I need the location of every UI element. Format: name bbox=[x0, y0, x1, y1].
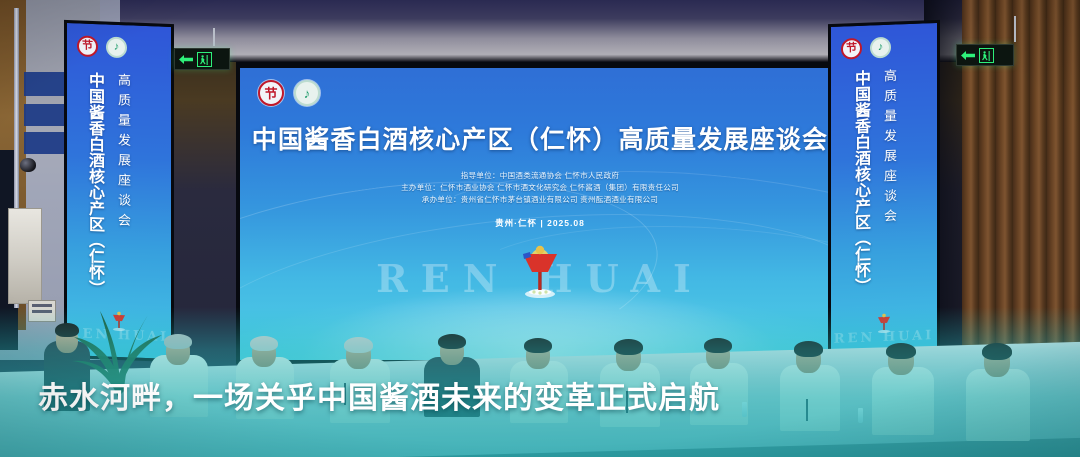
running-man-exit-icon bbox=[197, 52, 212, 67]
guidance-unit-line: 指导单位：中国酒类流通协会 仁怀市人民政府 bbox=[240, 170, 840, 182]
banner-logos: 节 ♪ bbox=[841, 37, 891, 60]
wall-speaker bbox=[8, 208, 42, 304]
exit-sign-hanger bbox=[1014, 16, 1016, 42]
association-logo: 节 bbox=[841, 38, 862, 60]
exit-sign-left bbox=[174, 48, 230, 70]
exit-sign-right bbox=[956, 44, 1014, 66]
running-man-exit-icon bbox=[979, 48, 994, 63]
government-logo: ♪ bbox=[106, 37, 127, 59]
security-camera-icon bbox=[20, 158, 36, 172]
banner-sub-text: 高质量发展座谈会 bbox=[879, 68, 898, 229]
banner-sub-text: 高质量发展座谈会 bbox=[113, 73, 132, 234]
conference-title: 中国酱香白酒核心产区（仁怀）高质量发展座谈会 bbox=[240, 120, 840, 156]
renhuai-statue-icon bbox=[517, 242, 563, 298]
left-arrow-icon bbox=[178, 53, 194, 66]
place-date: 贵州·仁怀 | 2025.08 bbox=[240, 217, 840, 229]
screen-title-block: 中国酱香白酒核心产区（仁怀）高质量发展座谈会 指导单位：中国酒类流通协会 仁怀市… bbox=[240, 120, 840, 229]
headline-caption: 赤水河畔，一场关乎中国酱酒未来的变革正式启航 bbox=[38, 373, 720, 417]
banner-main-text: 中国酱香白酒核心产区（仁怀） bbox=[83, 72, 107, 297]
screen-logos: 节 ♪ bbox=[258, 80, 320, 106]
host-unit-line: 主办单位：仁怀市酒业协会 仁怀市酒文化研究会 仁怀酱酒（集团）有限责任公司 bbox=[240, 182, 840, 194]
china-alcoholic-drinks-association-logo: 节 bbox=[258, 80, 284, 106]
renhuai-government-logo: ♪ bbox=[294, 80, 320, 106]
banner-logos: 节 ♪ bbox=[77, 35, 127, 58]
conference-photo: 节 ♪ 中国酱香白酒核心产区（仁怀） 高质量发展座谈会 REN HUAI bbox=[0, 0, 1080, 457]
organizer-unit-line: 承办单位：贵州省仁怀市茅台镇酒业有限公司 贵州酝酒酒业有限公司 bbox=[240, 194, 840, 206]
government-logo: ♪ bbox=[870, 37, 891, 59]
association-logo: 节 bbox=[77, 35, 98, 57]
exit-sign-hanger bbox=[213, 28, 215, 46]
left-arrow-icon bbox=[960, 49, 976, 62]
organizer-lines: 指导单位：中国酒类流通协会 仁怀市人民政府 主办单位：仁怀市酒业协会 仁怀市酒文… bbox=[240, 170, 840, 206]
banner-main-text: 中国酱香白酒核心产区（仁怀） bbox=[849, 69, 873, 294]
